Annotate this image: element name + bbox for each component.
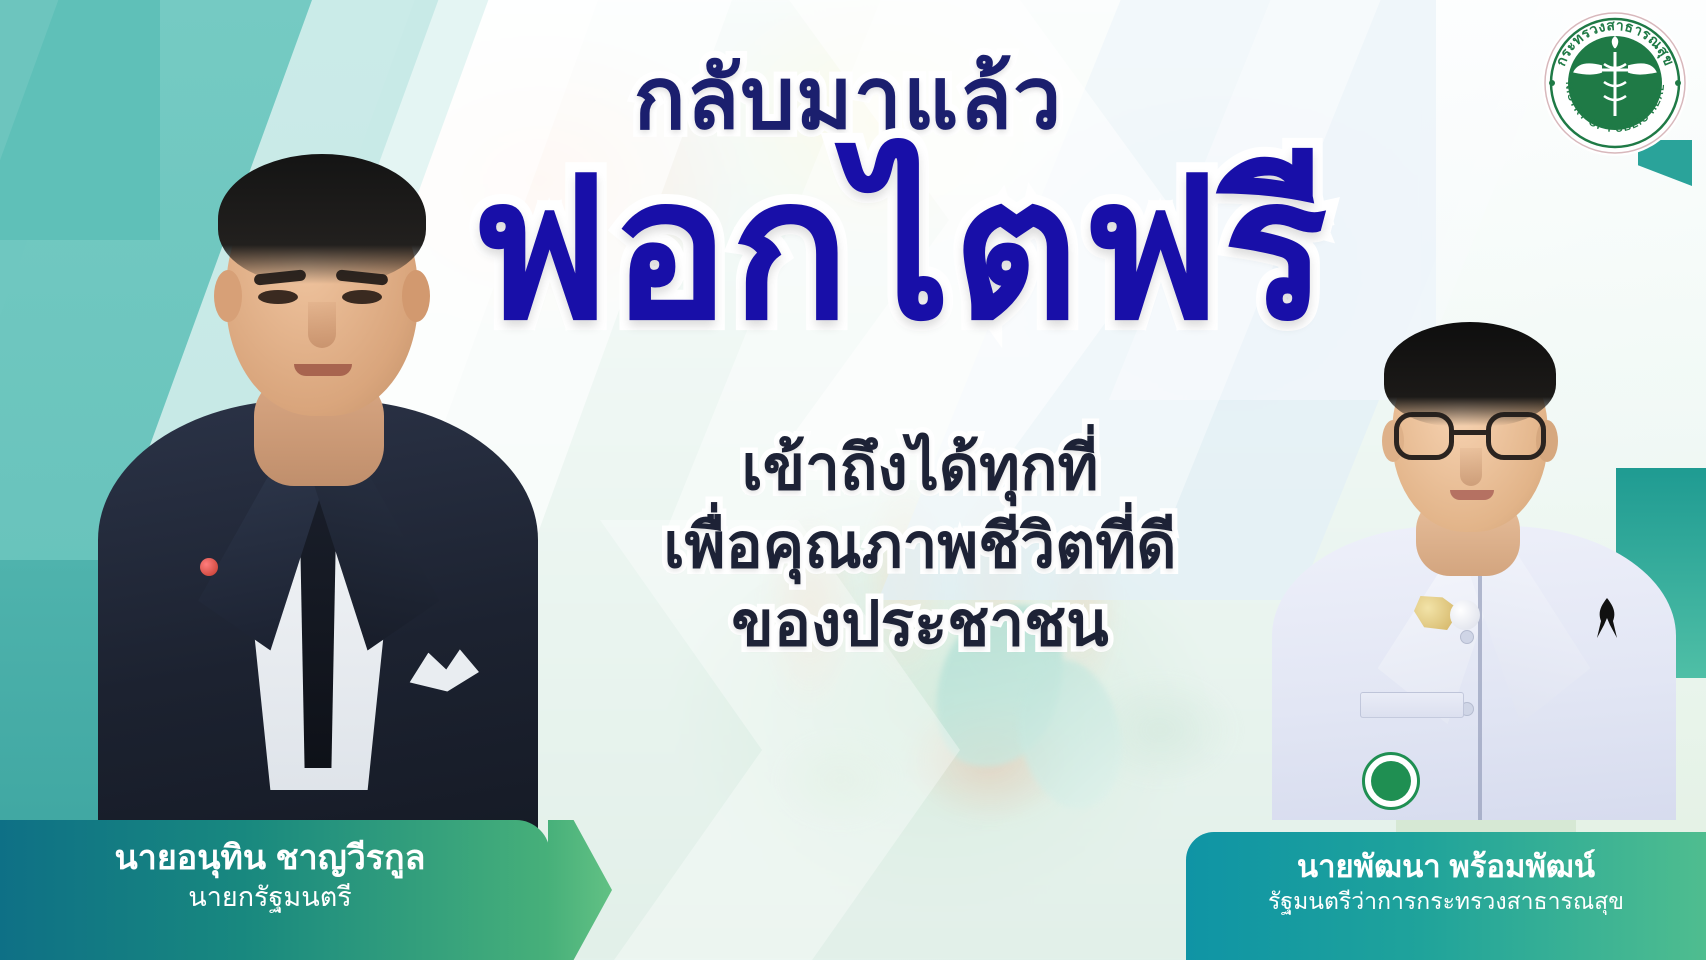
right-hair bbox=[1384, 322, 1556, 426]
subtitle-line-1: เข้าถึงได้ทุกที่ bbox=[560, 430, 1280, 508]
portrait-right-person bbox=[1264, 300, 1684, 820]
right-medal-insignia-2 bbox=[1450, 600, 1480, 630]
subtitle-line-2: เพื่อคุณภาพชีวิตที่ดี bbox=[560, 508, 1280, 586]
name-banner-right: นายพัฒนา พร้อมพัฒน์ รัฐมนตรีว่าการกระทรว… bbox=[1186, 832, 1706, 960]
right-person-title: รัฐมนตรีว่าการกระทรวงสาธารณสุข bbox=[1186, 887, 1706, 916]
moph-logo-dot-right bbox=[1675, 80, 1681, 86]
right-mouth bbox=[1450, 490, 1494, 500]
left-nose bbox=[308, 302, 336, 348]
subtitle-block: เข้าถึงได้ทุกที่ เพื่อคุณภาพชีวิตที่ดี ข… bbox=[560, 430, 1280, 664]
left-lapel-pin bbox=[200, 558, 218, 576]
headline-line-2: ฟอกไตฟรี bbox=[400, 150, 1400, 350]
moph-badge-icon bbox=[1362, 752, 1420, 810]
poster-canvas: กระทรวงสาธารณสุข MINISTRY OF PUBLIC HEAL… bbox=[0, 0, 1706, 960]
name-banner-left: นายอนุทิน ชาญวีรกูล นายกรัฐมนตรี bbox=[0, 820, 550, 960]
left-person-name: นายอนุทิน ชาญวีรกูล bbox=[0, 838, 550, 879]
headline-block-main: ฟอกไตฟรี bbox=[400, 150, 1400, 350]
left-mouth bbox=[294, 364, 352, 376]
headline-line-1: กลับมาแล้ว bbox=[388, 56, 1308, 142]
left-person-title: นายกรัฐมนตรี bbox=[0, 881, 550, 915]
left-eye-right bbox=[342, 290, 382, 304]
left-ear-left bbox=[214, 270, 242, 322]
headline-block: กลับมาแล้ว bbox=[388, 56, 1308, 142]
moph-logo: กระทรวงสาธารณสุข MINISTRY OF PUBLIC HEAL… bbox=[1540, 8, 1690, 158]
right-person-name: นายพัฒนา พร้อมพัฒน์ bbox=[1186, 848, 1706, 885]
right-uniform-button-1 bbox=[1460, 630, 1474, 644]
left-eye-left bbox=[258, 290, 298, 304]
subtitle-line-3: ของประชาชน bbox=[560, 586, 1280, 664]
right-pocket-flap bbox=[1360, 692, 1464, 718]
moph-logo-dot-left bbox=[1549, 80, 1555, 86]
left-hair bbox=[218, 154, 426, 284]
mourning-ribbon-icon bbox=[1594, 594, 1620, 640]
right-uniform-placket bbox=[1478, 550, 1482, 820]
moph-badge-inner bbox=[1371, 761, 1411, 801]
right-glasses-bridge bbox=[1452, 430, 1488, 435]
